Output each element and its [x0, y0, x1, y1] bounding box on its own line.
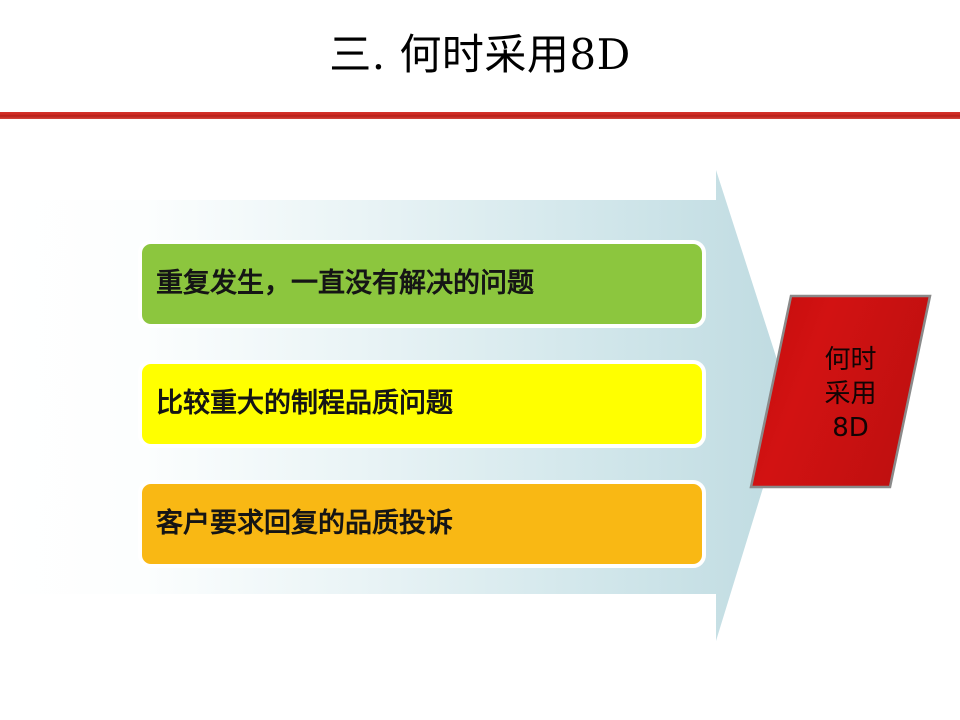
item-box-yellow[interactable]: 比较重大的制程品质问题 — [138, 360, 706, 448]
item-box-orange[interactable]: 客户要求回复的品质投诉 — [138, 480, 706, 568]
item-label-orange: 客户要求回复的品质投诉 — [156, 509, 453, 539]
page-title: 三. 何时采用8D — [0, 26, 960, 84]
title-divider-rule — [0, 112, 960, 119]
item-label-yellow: 比较重大的制程品质问题 — [156, 389, 453, 419]
slide-canvas: 三. 何时采用8D 重复发生，一直没有解决的问题 比较重大的制程品质问题 客户要… — [0, 0, 960, 720]
item-label-green: 重复发生，一直没有解决的问题 — [156, 269, 534, 299]
callout-parallelogram[interactable]: 何时 采用 8D — [740, 286, 945, 501]
parallelogram-shape-icon — [740, 286, 945, 501]
item-box-green[interactable]: 重复发生，一直没有解决的问题 — [138, 240, 706, 328]
